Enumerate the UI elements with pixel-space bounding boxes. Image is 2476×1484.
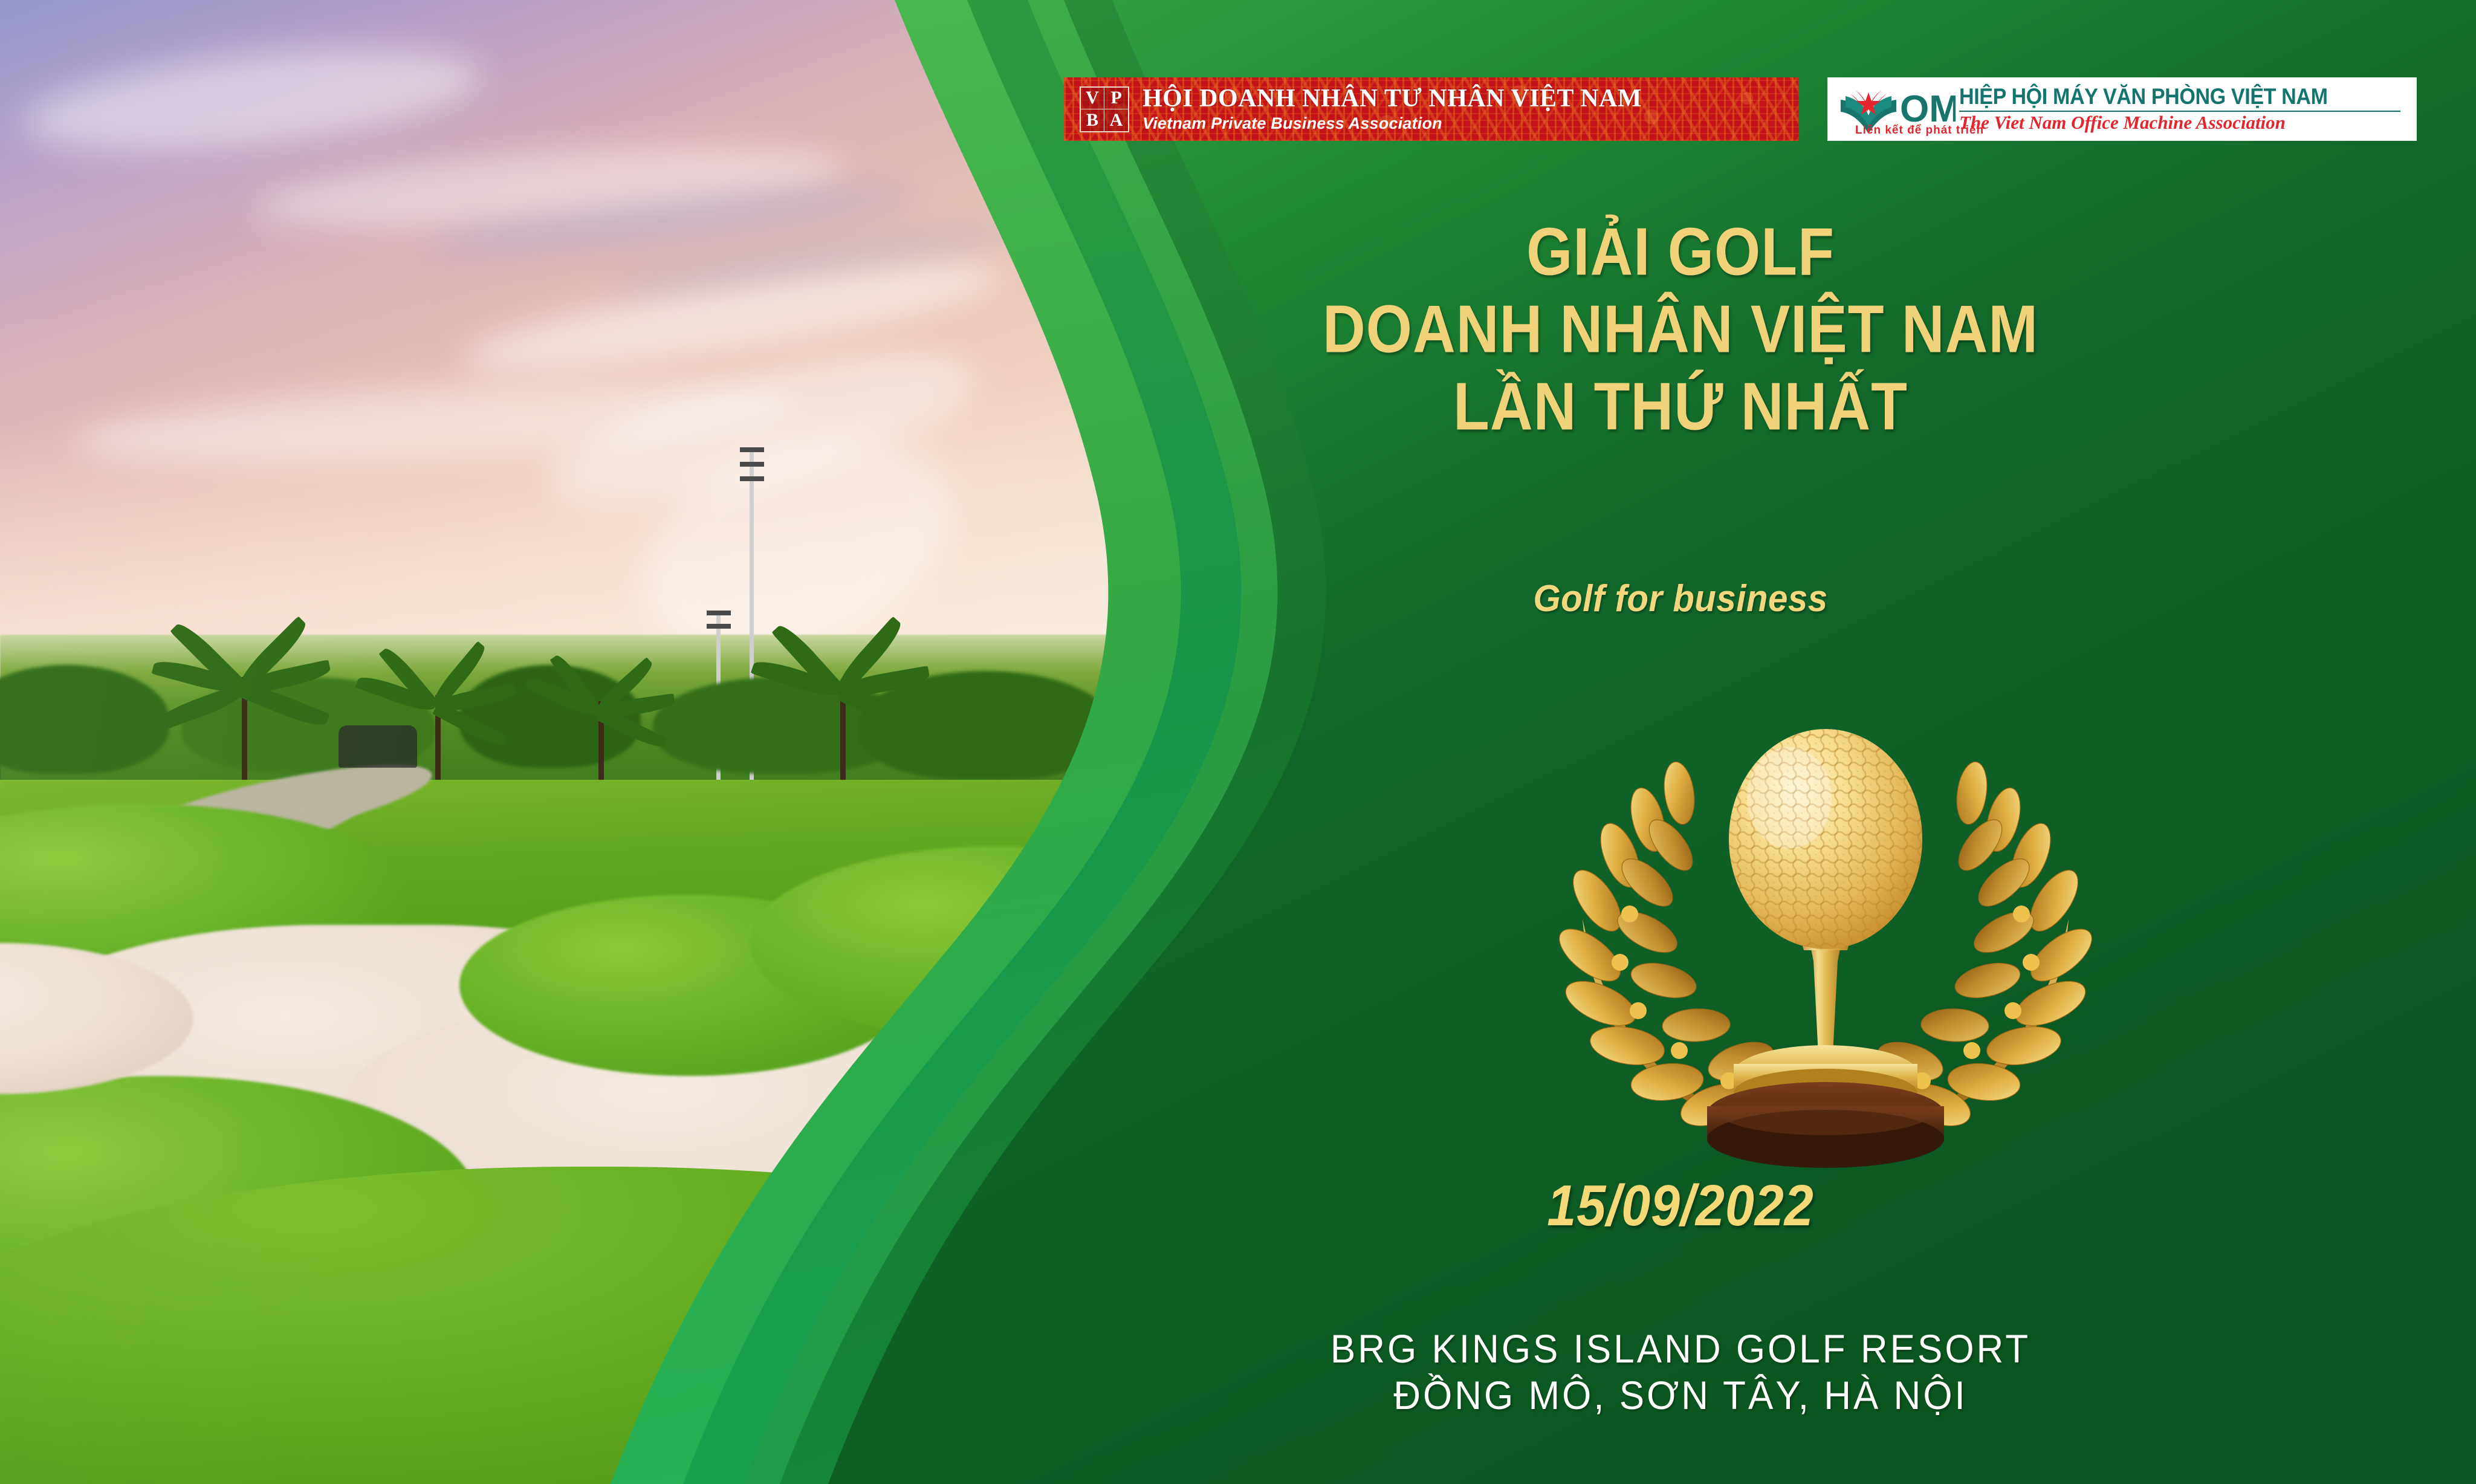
- page-title: GIẢI GOLF DOANH NHÂN VIỆT NAM LẦN THỨ NH…: [1136, 218, 2225, 433]
- title-line-1: GIẢI GOLF: [1136, 218, 2225, 287]
- oma-name-en: The Viet Nam Office Machine Association: [1959, 113, 2400, 133]
- vpba-name-en: Vietnam Private Business Association: [1142, 114, 1642, 133]
- oma-slogan: Liên kết để phát triển: [1855, 124, 1984, 137]
- vpba-name-vi: HỘI DOANH NHÂN TƯ NHÂN VIỆT NAM: [1142, 85, 1642, 112]
- vpba-letter-p: P: [1104, 88, 1128, 109]
- title-line-2: DOANH NHÂN VIỆT NAM: [1136, 295, 2225, 364]
- vpba-letter-b: B: [1081, 109, 1104, 131]
- event-date: 15/09/2022: [1191, 1173, 2170, 1239]
- tagline: Golf for business: [1169, 577, 2192, 620]
- vpba-letter-v: V: [1081, 88, 1104, 109]
- title-line-3: LẦN THỨ NHẤT: [1136, 372, 2225, 441]
- vpba-letter-a: A: [1104, 109, 1128, 131]
- venue-block: BRG KINGS ISLAND GOLF RESORT ĐỒNG MÔ, SƠ…: [1136, 1327, 2225, 1420]
- vpba-monogram: V P B A: [1080, 86, 1129, 132]
- golf-tournament-poster: V P B A HỘI DOANH NHÂN TƯ NHÂN VIỆT NAM …: [0, 0, 2476, 1484]
- logo-bar: V P B A HỘI DOANH NHÂN TƯ NHÂN VIỆT NAM …: [1064, 77, 2418, 141]
- venue-line-1: BRG KINGS ISLAND GOLF RESORT: [1136, 1326, 2225, 1375]
- golf-trophy-icon: [1523, 701, 2128, 1185]
- vpba-logo[interactable]: V P B A HỘI DOANH NHÂN TƯ NHÂN VIỆT NAM …: [1064, 77, 1798, 141]
- oma-name-vi: HIỆP HỘI MÁY VĂN PHÒNG VIỆT NAM: [1959, 85, 2365, 108]
- oma-logo[interactable]: OMA HIỆP HỘI MÁY VĂN PHÒNG VIỆT NAM The …: [1827, 77, 2417, 141]
- venue-line-2: ĐỒNG MÔ, SƠN TÂY, HÀ NỘI: [1136, 1372, 2225, 1421]
